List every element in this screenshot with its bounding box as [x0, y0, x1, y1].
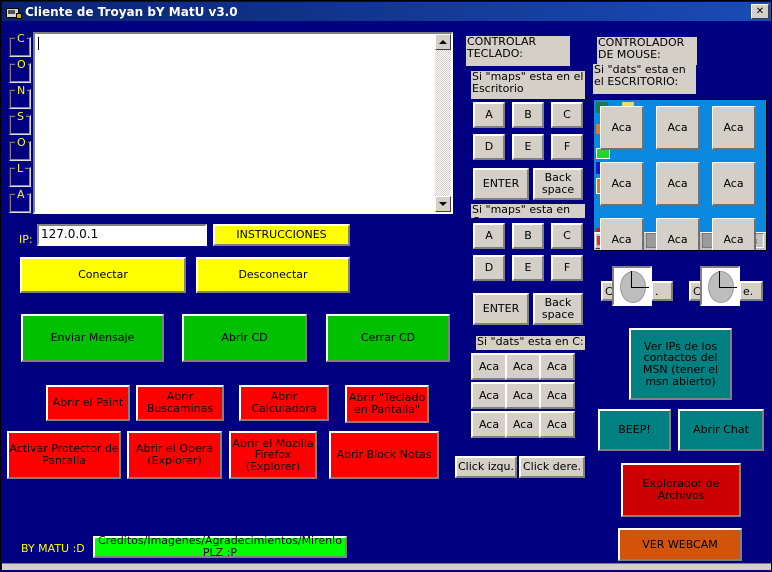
key-a-desktop[interactable]: A [473, 102, 505, 128]
key-backspace-c[interactable]: Back space [533, 293, 583, 325]
webcam-button[interactable]: VER WEBCAM [618, 528, 742, 561]
mouse-dial-right[interactable] [700, 266, 740, 306]
beep-button[interactable]: BEEP! [598, 409, 671, 451]
ip-label: IP: [19, 233, 33, 246]
scroll-down-icon[interactable] [435, 196, 451, 212]
mouse-cell-5[interactable]: Aca [712, 162, 756, 206]
mouse-cell-2[interactable]: Aca [712, 106, 756, 150]
click-left-button[interactable]: Click izqu. [455, 456, 517, 478]
file-explorer-button[interactable]: Explorador de Archivos [621, 463, 741, 517]
console-letter-1: O [15, 58, 28, 71]
open-notepad-button[interactable]: Abrir Block Notas [329, 431, 439, 479]
mouse-cell-7[interactable]: Aca [656, 218, 700, 251]
text-caret [38, 37, 39, 50]
dats-cell-2[interactable]: Aca [539, 353, 575, 380]
dats-cell-1[interactable]: Aca [505, 353, 541, 380]
open-firefox-button[interactable]: Abrir el Mozilla Firefox (Explorer) [229, 431, 317, 479]
dats-group-label: Si "dats" esta en C: [476, 336, 585, 350]
remote-desktop-preview[interactable]: ::: Aca Aca Aca Aca Aca Aca Aca Aca Aca [593, 99, 767, 251]
open-paint-button[interactable]: Abrir el Paint [46, 385, 130, 421]
dats-cell-8[interactable]: Aca [539, 411, 575, 438]
key-e-desktop[interactable]: E [512, 134, 544, 160]
dats-cell-3[interactable]: Aca [471, 382, 507, 409]
close-icon[interactable]: ✕ [751, 4, 769, 19]
credits-button[interactable]: Creditos/Imagenes/Agradecimientos/Mirenl… [93, 536, 347, 558]
console-output-textbox[interactable] [33, 32, 453, 214]
console-letter-3: S [15, 110, 26, 123]
console-letter-6: A [15, 188, 27, 201]
key-backspace-desktop[interactable]: Back space [533, 168, 583, 200]
mouse-controller-title: CONTROLADOR DE MOUSE: [597, 37, 697, 65]
open-onscreen-keyboard-button[interactable]: Abrir "Teclado en Pantalla" [345, 385, 429, 423]
dats-cell-5[interactable]: Aca [539, 382, 575, 409]
app-icon [5, 5, 21, 19]
title-bar: Cliente de Troyan bY MatU v3.0 ✕ [2, 2, 772, 21]
key-b-c[interactable]: B [512, 223, 544, 249]
console-scrollbar[interactable] [435, 34, 451, 212]
msn-contact-ips-button[interactable]: Ver IPs de los contactos del MSN (tener … [629, 328, 732, 400]
application-window: Cliente de Troyan bY MatU v3.0 ✕ C O N S… [0, 0, 772, 572]
mouse-cell-3[interactable]: Aca [600, 162, 644, 206]
console-letter-5: L [15, 162, 25, 175]
key-c-c[interactable]: C [551, 223, 583, 249]
key-enter-c[interactable]: ENTER [473, 293, 529, 325]
key-e-c[interactable]: E [512, 255, 544, 281]
key-enter-desktop[interactable]: ENTER [473, 168, 529, 200]
open-chat-button[interactable]: Abrir Chat [678, 409, 764, 451]
mouse-click-right-suffix[interactable]: e. [739, 281, 763, 301]
dats-cell-7[interactable]: Aca [505, 411, 541, 438]
key-f-desktop[interactable]: F [551, 134, 583, 160]
open-opera-button[interactable]: Abrir el Opera (Explorer) [127, 431, 222, 479]
mouse-cell-0[interactable]: Aca [600, 106, 644, 150]
console-letter-2: N [15, 84, 27, 97]
send-message-button[interactable]: Enviar Mensaje [21, 314, 164, 362]
keyboard-title: CONTROLAR TECLADO: [466, 36, 570, 66]
instructions-button[interactable]: INSTRUCCIONES [213, 224, 350, 246]
mouse-dial-left[interactable] [612, 266, 652, 306]
key-a-c[interactable]: A [473, 223, 505, 249]
mouse-click-left-suffix[interactable]: . [651, 281, 673, 301]
key-d-desktop[interactable]: D [473, 134, 505, 160]
disconnect-button[interactable]: Desconectar [196, 257, 350, 293]
author-label: BY MATU :D [21, 542, 85, 555]
dats-cell-0[interactable]: Aca [471, 353, 507, 380]
open-cd-button[interactable]: Abrir CD [182, 314, 307, 362]
ip-input[interactable]: 127.0.0.1 [37, 224, 207, 246]
window-title: Cliente de Troyan bY MatU v3.0 [25, 5, 238, 19]
click-right-button[interactable]: Click dere. [519, 456, 585, 478]
scroll-up-icon[interactable] [435, 34, 451, 50]
mouse-cell-1[interactable]: Aca [656, 106, 700, 150]
open-minesweeper-button[interactable]: Abrir Buscaminas [136, 385, 224, 421]
activate-screensaver-button[interactable]: Activar Protector de Pantalla [7, 431, 121, 479]
key-c-desktop[interactable]: C [551, 102, 583, 128]
keyboard-c-group-label: Si "maps" esta en C: [471, 204, 585, 218]
keyboard-desktop-group-label: Si "maps" esta en el Escritorio [471, 71, 585, 99]
connect-button[interactable]: Conectar [20, 257, 186, 293]
scrollbar-track[interactable] [435, 50, 451, 196]
mouse-cell-4[interactable]: Aca [656, 162, 700, 206]
console-letter-4: O [15, 136, 28, 149]
mouse-cell-8[interactable]: Aca [712, 218, 756, 251]
key-d-c[interactable]: D [473, 255, 505, 281]
mouse-cell-6[interactable]: Aca [600, 218, 644, 251]
key-f-c[interactable]: F [551, 255, 583, 281]
status-strip [2, 563, 772, 570]
dats-cell-6[interactable]: Aca [471, 411, 507, 438]
console-letter-0: C [15, 32, 27, 45]
key-b-desktop[interactable]: B [512, 102, 544, 128]
dats-cell-4[interactable]: Aca [505, 382, 541, 409]
open-calculator-button[interactable]: Abrir Calculadora [239, 385, 329, 421]
close-cd-button[interactable]: Cerrar CD [326, 314, 450, 362]
mouse-controller-subtitle: Si "dats" esta en el ESCRITORIO: [593, 64, 696, 94]
